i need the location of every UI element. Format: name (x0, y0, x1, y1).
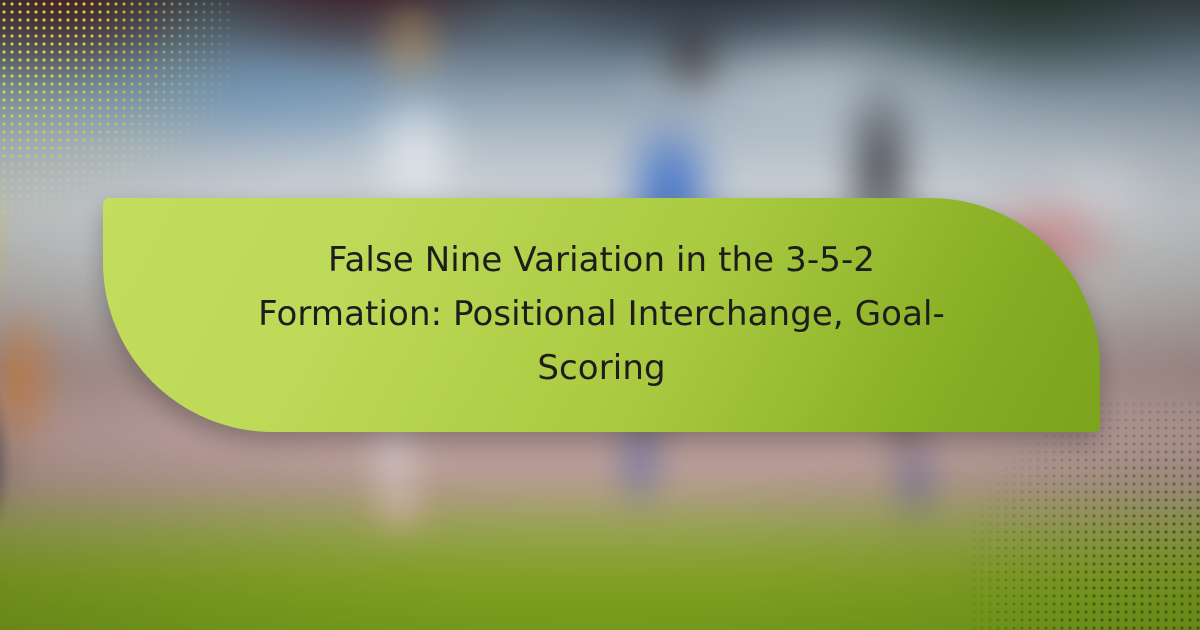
page-title: False Nine Variation in the 3-5-2 Format… (103, 234, 1100, 395)
banner-canvas: False Nine Variation in the 3-5-2 Format… (0, 0, 1200, 630)
title-card: False Nine Variation in the 3-5-2 Format… (103, 198, 1100, 432)
